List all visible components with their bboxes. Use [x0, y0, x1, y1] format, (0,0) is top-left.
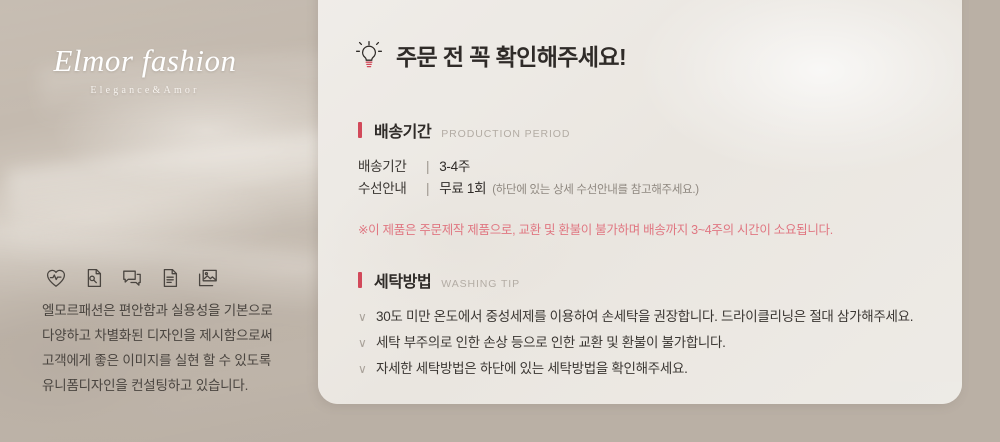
section-title-en: WASHING TIP [441, 278, 520, 290]
checklist-text: 30도 미만 온도에서 중성세제를 이용하여 손세탁을 권장합니다. 드라이클리… [376, 304, 913, 330]
image-photo-icon [196, 266, 220, 290]
about-line: 고객에게 좋은 이미지를 실현 할 수 있도록 [42, 348, 300, 373]
section-header: 세탁방법 WASHING TIP [358, 268, 913, 292]
brand-tagline: Elegance&Amor [0, 85, 290, 96]
document-search-icon [82, 266, 106, 290]
checklist-text: 자세한 세탁방법은 하단에 있는 세탁방법을 확인해주세요. [376, 356, 688, 382]
section-washing-tip: 세탁방법 WASHING TIP ∨ 30도 미만 온도에서 중성세제를 이용하… [358, 268, 913, 382]
detail-rows: 배송기간 | 3-4주 수선안내 | 무료 1회 (하단에 있는 상세 수선안내… [358, 156, 833, 201]
check-icon: ∨ [358, 356, 376, 382]
detail-note: (하단에 있는 상세 수선안내를 참고해주세요.) [492, 179, 699, 201]
checklist-item: ∨ 세탁 부주의로 인한 손상 등으로 인한 교환 및 환불이 불가합니다. [358, 330, 913, 356]
section-accent-bar [358, 122, 362, 138]
about-line: 다양하고 차별화된 디자인을 제시함으로써 [42, 323, 300, 348]
about-line: 엘모르패션은 편안함과 실용성을 기본으로 [42, 298, 300, 323]
alert-text: ※이 제품은 주문제작 제품으로, 교환 및 환불이 불가하며 배송까지 3~4… [358, 219, 833, 238]
about-line: 유니폼디자인을 컨설팅하고 있습니다. [42, 373, 300, 398]
brand-logo-block: Elmor fashion Elegance&Amor [0, 44, 290, 96]
chat-bubbles-icon [120, 266, 144, 290]
heart-pulse-icon [44, 266, 68, 290]
page-root: Elmor fashion Elegance&Amor [0, 0, 1000, 442]
brand-icon-row [44, 266, 220, 290]
detail-row: 수선안내 | 무료 1회 (하단에 있는 상세 수선안내를 참고해주세요.) [358, 178, 833, 201]
detail-row: 배송기간 | 3-4주 [358, 156, 833, 178]
check-icon: ∨ [358, 304, 376, 330]
card-content: 주문 전 꼭 확인해주세요! 배송기간 PRODUCTION PERIOD 배송… [318, 0, 962, 404]
card-header: 주문 전 꼭 확인해주세요! [354, 38, 626, 72]
section-header: 배송기간 PRODUCTION PERIOD [358, 118, 833, 142]
check-icon: ∨ [358, 330, 376, 356]
section-title-en: PRODUCTION PERIOD [441, 128, 570, 140]
section-title-ko: 세탁방법 [374, 268, 431, 292]
washing-checklist: ∨ 30도 미만 온도에서 중성세제를 이용하여 손세탁을 권장합니다. 드라이… [358, 304, 913, 382]
detail-label: 수선안내 [358, 178, 420, 200]
document-lines-icon [158, 266, 182, 290]
brand-name: Elmor fashion [0, 44, 290, 78]
section-accent-bar [358, 272, 362, 288]
checklist-item: ∨ 30도 미만 온도에서 중성세제를 이용하여 손세탁을 권장합니다. 드라이… [358, 304, 913, 330]
detail-separator: | [426, 178, 429, 200]
card-title: 주문 전 꼭 확인해주세요! [396, 38, 626, 72]
brand-about-text: 엘모르패션은 편안함과 실용성을 기본으로 다양하고 차별화된 디자인을 제시함… [42, 298, 300, 398]
detail-value: 무료 1회 [439, 178, 486, 200]
brand-pane: Elmor fashion Elegance&Amor [0, 0, 330, 442]
lightbulb-icon [354, 39, 384, 71]
detail-value: 3-4주 [439, 156, 470, 178]
checklist-text: 세탁 부주의로 인한 손상 등으로 인한 교환 및 환불이 불가합니다. [376, 330, 726, 356]
detail-label: 배송기간 [358, 156, 420, 178]
section-title-ko: 배송기간 [374, 118, 431, 142]
detail-separator: | [426, 156, 429, 178]
checklist-item: ∨ 자세한 세탁방법은 하단에 있는 세탁방법을 확인해주세요. [358, 356, 913, 382]
section-production-period: 배송기간 PRODUCTION PERIOD 배송기간 | 3-4주 수선안내 … [358, 118, 833, 238]
notice-card: 주문 전 꼭 확인해주세요! 배송기간 PRODUCTION PERIOD 배송… [318, 0, 962, 404]
